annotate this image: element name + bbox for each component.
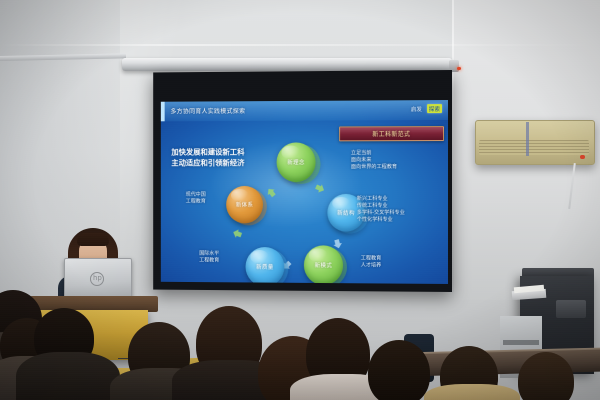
cycle-circle-new-quality: 新质量	[246, 247, 285, 284]
slide-header-accent	[161, 102, 165, 122]
callout-new-quality-line-2: 工程教育	[199, 258, 219, 265]
slide-tab-inspire: 启发	[411, 105, 422, 113]
callout-new-concept: 立足当前 面向未来 面向世界的工程教育	[351, 150, 397, 171]
lecture-room-photo: 多方协同育人实践模式探索 启发 探索 新工科新范式 加快发展和建设新工科 主动适…	[0, 0, 600, 400]
cycle-circle-new-quality-label: 新质量	[256, 263, 273, 271]
air-conditioner-led-icon	[580, 155, 585, 159]
slide-red-banner-label: 新工科新范式	[372, 129, 410, 138]
copier-tray-slot-1[interactable]	[503, 340, 539, 345]
callout-new-system-line-2: 工程教育	[186, 199, 206, 206]
slide-title: 多方协同育人实践模式探索	[170, 106, 245, 115]
projector-screen-casing	[122, 58, 452, 71]
callout-new-concept-line-2: 面向未来	[351, 157, 397, 164]
presenter-fringe	[77, 233, 109, 246]
cycle-circle-new-system-label: 新体系	[236, 201, 253, 209]
callout-new-concept-line-3: 面向世界的工程教育	[351, 164, 397, 171]
slide-tab-explore: 探索	[427, 104, 442, 113]
callout-new-mode: 工程教育 人才培养	[361, 255, 381, 269]
slide-header-tabs: 启发 探索	[411, 104, 442, 113]
presentation-slide: 多方协同育人实践模式探索 启发 探索 新工科新范式 加快发展和建设新工科 主动适…	[161, 100, 448, 284]
callout-new-quality: 国际水平 工程教育	[199, 251, 219, 265]
slide-red-banner: 新工科新范式	[339, 126, 444, 141]
slide-lead-line-2: 主动适应和引领新经济	[171, 157, 244, 168]
cycle-circle-new-concept: 新理念	[277, 142, 316, 182]
cycle-circle-new-mode-label: 新模式	[315, 261, 333, 269]
callout-new-system: 现代中国 工程教育	[186, 192, 206, 206]
audience-head	[368, 340, 430, 400]
slide-lead-line-1: 加快发展和建设新工科	[171, 147, 244, 158]
projection-screen: 多方协同育人实践模式探索 启发 探索 新工科新范式 加快发展和建设新工科 主动适…	[153, 70, 452, 292]
copier-control-panel[interactable]	[556, 300, 586, 318]
hp-logo-icon	[90, 272, 104, 286]
callout-new-structure: 新兴工科专业 传统工科专业 多学科-交叉学科专业 个性化学科专业	[357, 196, 405, 224]
air-conditioner-seam	[526, 122, 529, 156]
cycle-circle-new-concept-label: 新理念	[287, 158, 305, 166]
callout-new-structure-line-4: 个性化学科专业	[357, 217, 405, 224]
callout-new-mode-line-2: 人才培养	[361, 262, 381, 269]
cycle-circle-new-mode: 新模式	[304, 245, 343, 284]
screen-status-led-icon	[457, 67, 461, 70]
audience-body	[16, 352, 120, 400]
cycle-circle-new-structure-label: 新结构	[337, 209, 355, 217]
air-conditioner-vent	[479, 140, 589, 155]
ceiling-seam	[0, 44, 600, 46]
cycle-circle-new-system: 新体系	[226, 186, 263, 223]
callout-new-system-line-1: 现代中国	[186, 192, 206, 199]
audience-body	[424, 384, 520, 400]
slide-lead-text: 加快发展和建设新工科 主动适应和引领新经济	[171, 147, 244, 169]
